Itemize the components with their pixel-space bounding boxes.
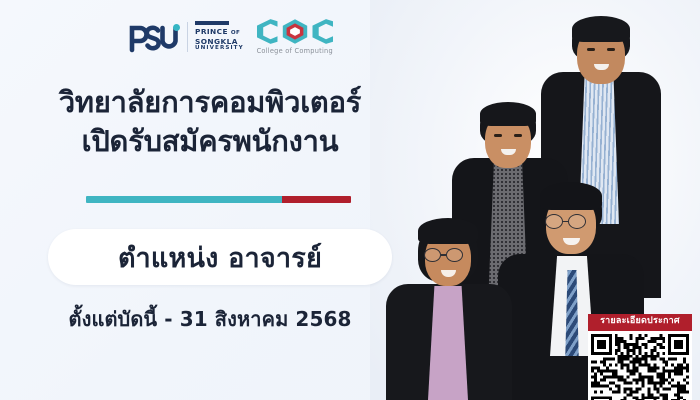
divider-teal-segment	[86, 196, 282, 203]
psu-accent-dot-icon	[173, 24, 180, 31]
psu-line-3: UNIVERSITY	[195, 46, 244, 52]
headline-line-2: เปิดรับสมัครพนักงาน	[0, 123, 420, 160]
logo-row: PRINCE OF SONGKLA UNIVERSITY College of …	[126, 18, 337, 55]
application-period: ตั้งแต่บัดนี้ - 31 สิงหาคม 2568	[0, 303, 420, 335]
headline-line-1: วิทยาลัยการคอมพิวเตอร์	[0, 84, 420, 121]
divider-red-segment	[282, 196, 351, 203]
headline: วิทยาลัยการคอมพิวเตอร์ เปิดรับสมัครพนักง…	[0, 84, 420, 159]
coc-tagline: College of Computing	[257, 47, 333, 55]
psu-monogram-icon	[126, 20, 180, 54]
position-pill: ตำแหน่ง อาจารย์	[48, 229, 392, 285]
qr-block[interactable]: รายละเอียดประกาศ	[588, 314, 692, 400]
coc-logo: College of Computing	[253, 18, 337, 55]
qr-canvas[interactable]	[591, 334, 689, 400]
psu-wordmark: PRINCE OF SONGKLA UNIVERSITY	[195, 21, 244, 52]
logo-divider	[187, 22, 188, 52]
qr-label: รายละเอียดประกาศ	[588, 314, 692, 331]
person-front-left	[386, 214, 516, 400]
hair-top	[540, 182, 602, 210]
position-label: ตำแหน่ง อาจารย์	[118, 236, 322, 279]
recruitment-poster: PRINCE OF SONGKLA UNIVERSITY College of …	[0, 0, 700, 400]
qr-code[interactable]	[588, 331, 692, 400]
psu-rule	[195, 21, 229, 25]
coc-monogram-icon	[253, 18, 337, 45]
psu-logo: PRINCE OF SONGKLA UNIVERSITY	[126, 20, 244, 54]
eyeglasses-icon	[424, 248, 463, 262]
accent-divider	[86, 196, 351, 203]
hair-top	[418, 218, 478, 244]
eyeglasses-icon	[545, 214, 586, 229]
hair-top	[572, 16, 630, 42]
psu-line-1: PRINCE OF	[195, 28, 244, 37]
hair-top	[480, 102, 536, 126]
psu-line-2: SONGKLA	[195, 38, 244, 46]
lavender-blouse	[428, 286, 468, 400]
